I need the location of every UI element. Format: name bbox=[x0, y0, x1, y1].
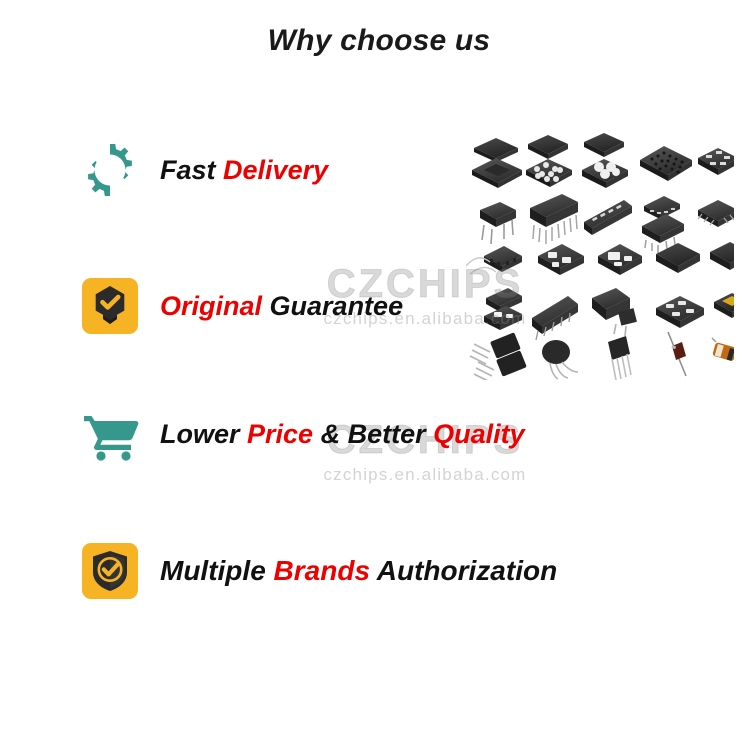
label-part: & Better bbox=[321, 419, 434, 449]
feature-row-multiple-brands: Multiple Brands Authorization bbox=[82, 543, 557, 599]
label-part: Brands bbox=[274, 555, 377, 586]
shield-check-icon bbox=[82, 543, 138, 599]
infographic-canvas: Why choose us bbox=[0, 0, 750, 750]
label-part: Authorization bbox=[377, 555, 557, 586]
feature-row-fast-delivery: Fast Delivery bbox=[82, 142, 328, 198]
label-part: Multiple bbox=[160, 555, 274, 586]
page-title: Why choose us bbox=[0, 24, 750, 58]
label-part: Quality bbox=[433, 419, 525, 449]
shopping-cart-icon bbox=[82, 406, 138, 462]
label-part: Guarantee bbox=[270, 291, 404, 321]
label-part: Fast bbox=[160, 155, 223, 185]
label-part: Original bbox=[160, 291, 270, 321]
feature-label-multiple-brands: Multiple Brands Authorization bbox=[160, 555, 557, 587]
award-badge-icon bbox=[82, 278, 138, 334]
chip-gallery-image bbox=[466, 126, 734, 380]
gear-icon bbox=[82, 142, 138, 198]
label-part: Lower bbox=[160, 419, 247, 449]
feature-row-original-guarantee: Original Guarantee bbox=[82, 278, 403, 334]
label-part: Delivery bbox=[223, 155, 328, 185]
feature-label-fast-delivery: Fast Delivery bbox=[160, 155, 328, 186]
feature-label-original-guarantee: Original Guarantee bbox=[160, 291, 403, 322]
feature-label-lower-price: Lower Price & Better Quality bbox=[160, 419, 525, 450]
feature-row-lower-price: Lower Price & Better Quality bbox=[82, 406, 525, 462]
label-part: Price bbox=[247, 419, 321, 449]
watermark-url: czchips.en.alibaba.com bbox=[295, 465, 555, 485]
